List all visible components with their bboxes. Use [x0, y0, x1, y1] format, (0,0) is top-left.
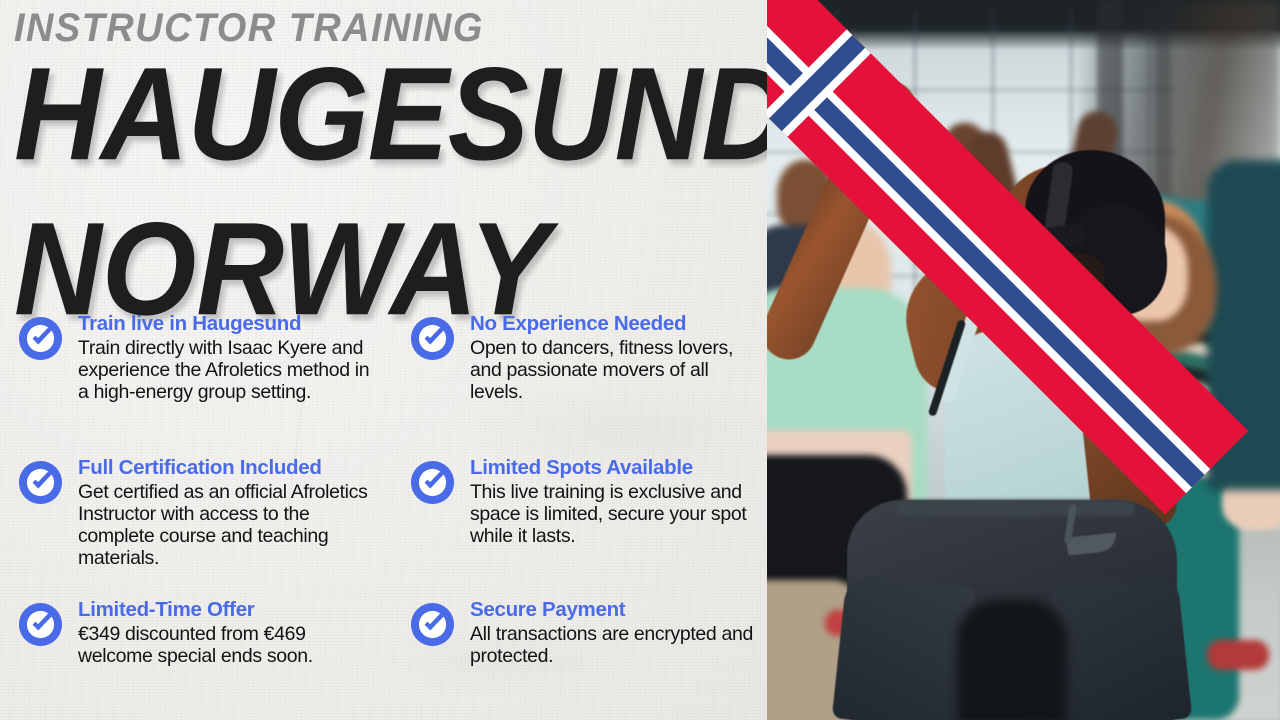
background-dancer-shoe	[1207, 640, 1269, 670]
check-circle-icon	[410, 316, 455, 361]
feature-title: Limited Spots Available	[470, 456, 757, 480]
feature-title: Full Certification Included	[78, 456, 382, 480]
hero-photo	[767, 0, 1280, 720]
feature-title: Train live in Haugesund	[78, 312, 382, 336]
feature-description: €349 discounted from €469 welcome specia…	[78, 623, 382, 667]
feature-list: Train live in Haugesund Train directly w…	[0, 312, 767, 712]
pants-crotch-shadow	[957, 600, 1067, 720]
feature-description: All transactions are encrypted and prote…	[470, 623, 757, 667]
feature-description: Train directly with Isaac Kyere and expe…	[78, 337, 382, 403]
check-circle-icon	[410, 602, 455, 647]
feature-description: This live training is exclusive and spac…	[470, 481, 757, 547]
feature-title: Limited-Time Offer	[78, 598, 382, 622]
feature-title: No Experience Needed	[470, 312, 757, 336]
feature-title: Secure Payment	[470, 598, 757, 622]
pants-waistband	[895, 500, 1135, 516]
page-title-city: HAUGESUND	[14, 54, 776, 176]
feature-item: Limited-Time Offer €349 discounted from …	[0, 598, 396, 712]
feature-item: Limited Spots Available This live traini…	[396, 456, 767, 598]
feature-item: Secure Payment All transactions are encr…	[396, 598, 767, 712]
feature-description: Open to dancers, fitness lovers, and pas…	[470, 337, 757, 403]
instructor-pants-leg	[1048, 574, 1192, 720]
check-circle-icon	[18, 460, 63, 505]
instructor-pants-leg	[832, 574, 976, 720]
feature-item: Full Certification Included Get certifie…	[0, 456, 396, 598]
check-circle-icon	[18, 602, 63, 647]
promo-poster: INSTRUCTOR TRAINING HAUGESUND NORWAY Tra…	[0, 0, 1280, 720]
check-circle-icon	[18, 316, 63, 361]
feature-item: Train live in Haugesund Train directly w…	[0, 312, 396, 456]
feature-item: No Experience Needed Open to dancers, fi…	[396, 312, 767, 456]
headline-block: INSTRUCTOR TRAINING HAUGESUND NORWAY	[14, 8, 754, 317]
check-circle-icon	[410, 460, 455, 505]
feature-description: Get certified as an official Afroletics …	[78, 481, 382, 569]
